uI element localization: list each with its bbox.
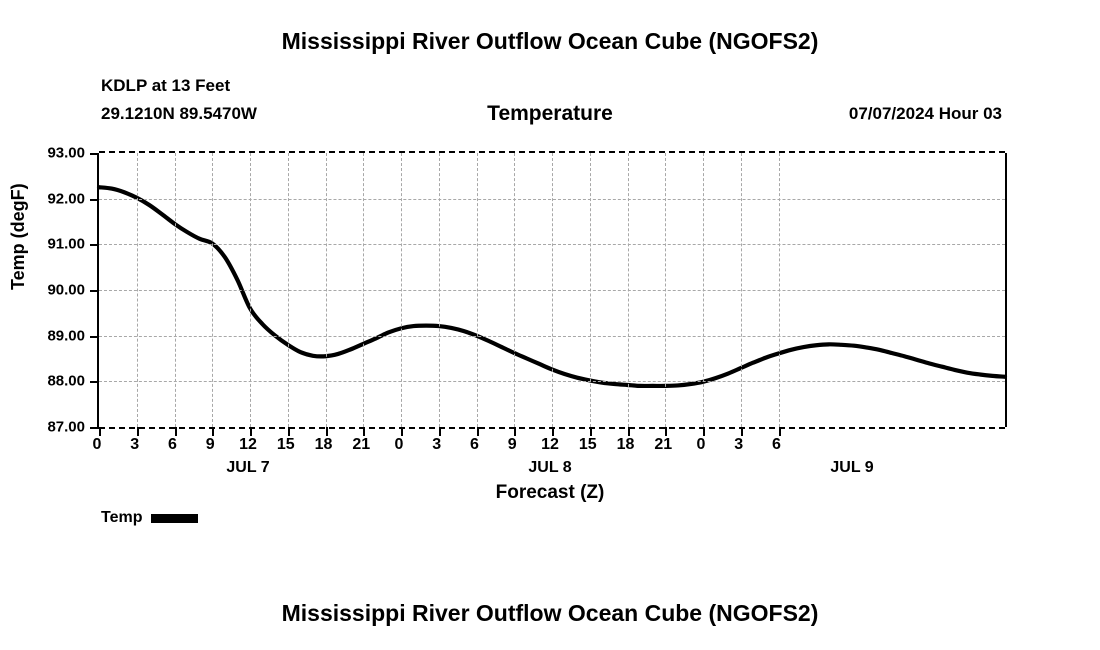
x-axis-tick <box>703 427 705 436</box>
y-axis-tick-label: 92.00 <box>15 190 85 207</box>
x-axis-tick <box>401 427 403 436</box>
x-axis-tick-label: 9 <box>190 436 230 454</box>
x-axis-tick <box>439 427 441 436</box>
x-axis-tick-label: 3 <box>115 436 155 454</box>
x-axis-tick <box>590 427 592 436</box>
x-axis-tick <box>779 427 781 436</box>
x-axis-tick-label: 21 <box>643 436 683 454</box>
y-axis-tick-label: 93.00 <box>15 145 85 162</box>
legend-line-swatch <box>151 514 198 523</box>
x-axis-tick <box>212 427 214 436</box>
y-axis-tick-label: 87.00 <box>15 419 85 436</box>
y-axis-tick-label: 90.00 <box>15 282 85 299</box>
gridline-vertical <box>779 153 780 427</box>
x-axis-tick-label: 21 <box>341 436 381 454</box>
gridline-vertical <box>288 153 289 427</box>
y-axis-tick <box>90 153 99 155</box>
x-axis-tick <box>288 427 290 436</box>
x-axis-tick-label: 6 <box>455 436 495 454</box>
gridline-vertical <box>401 153 402 427</box>
x-axis-tick-label: 18 <box>304 436 344 454</box>
y-axis-tick <box>90 290 99 292</box>
x-axis-tick-label: 6 <box>757 436 797 454</box>
x-axis-tick-label: 15 <box>266 436 306 454</box>
x-axis-tick <box>741 427 743 436</box>
x-axis-tick <box>552 427 554 436</box>
y-axis-tick <box>90 427 99 429</box>
x-axis-tick-label: 15 <box>568 436 608 454</box>
gridline-vertical <box>137 153 138 427</box>
y-axis-tick <box>90 199 99 201</box>
gridline-vertical <box>552 153 553 427</box>
gridline-vertical <box>477 153 478 427</box>
y-axis-tick-label: 88.00 <box>15 373 85 390</box>
x-axis-tick-label: 0 <box>77 436 117 454</box>
gridline-vertical <box>514 153 515 427</box>
gridline-vertical <box>212 153 213 427</box>
footer-title: Mississippi River Outflow Ocean Cube (NG… <box>0 600 1100 627</box>
x-axis-tick-label: 12 <box>228 436 268 454</box>
x-axis-tick-label: 9 <box>492 436 532 454</box>
gridline-vertical <box>326 153 327 427</box>
x-axis-tick <box>628 427 630 436</box>
gridline-vertical <box>250 153 251 427</box>
x-axis-tick <box>514 427 516 436</box>
gridline-vertical <box>628 153 629 427</box>
x-axis-day-label: JUL 7 <box>188 459 308 477</box>
x-axis-tick-label: 3 <box>417 436 457 454</box>
y-axis-tick-label: 91.00 <box>15 236 85 253</box>
station-name-label: KDLP at 13 Feet <box>101 76 230 96</box>
page-title: Mississippi River Outflow Ocean Cube (NG… <box>0 28 1100 55</box>
gridline-vertical <box>175 153 176 427</box>
gridline-vertical <box>363 153 364 427</box>
x-axis-tick <box>250 427 252 436</box>
x-axis-day-label: JUL 8 <box>490 459 610 477</box>
chart-page: Mississippi River Outflow Ocean Cube (NG… <box>0 0 1100 650</box>
gridline-vertical <box>703 153 704 427</box>
x-axis-tick-label: 3 <box>719 436 759 454</box>
x-axis-tick <box>477 427 479 436</box>
gridline-vertical <box>590 153 591 427</box>
gridline-vertical <box>741 153 742 427</box>
x-axis-tick <box>99 427 101 436</box>
plot-area <box>97 153 1007 427</box>
x-axis-tick <box>363 427 365 436</box>
x-axis-tick <box>137 427 139 436</box>
y-axis-tick-label: 89.00 <box>15 327 85 344</box>
y-axis-tick <box>90 244 99 246</box>
x-axis-tick <box>326 427 328 436</box>
x-axis-tick-label: 0 <box>379 436 419 454</box>
x-axis-title: Forecast (Z) <box>0 482 1100 504</box>
x-axis-tick-label: 6 <box>153 436 193 454</box>
gridline-vertical <box>665 153 666 427</box>
x-axis-tick-label: 18 <box>606 436 646 454</box>
x-axis-tick-label: 12 <box>530 436 570 454</box>
gridline-vertical <box>439 153 440 427</box>
x-axis-tick <box>665 427 667 436</box>
x-axis-tick <box>175 427 177 436</box>
legend: Temp <box>101 509 198 527</box>
x-axis-day-label: JUL 9 <box>792 459 912 477</box>
model-run-timestamp: 07/07/2024 Hour 03 <box>849 104 1002 124</box>
y-axis-tick <box>90 381 99 383</box>
legend-entry-label: Temp <box>101 509 142 527</box>
y-axis-tick <box>90 336 99 338</box>
x-axis-tick-label: 0 <box>681 436 721 454</box>
